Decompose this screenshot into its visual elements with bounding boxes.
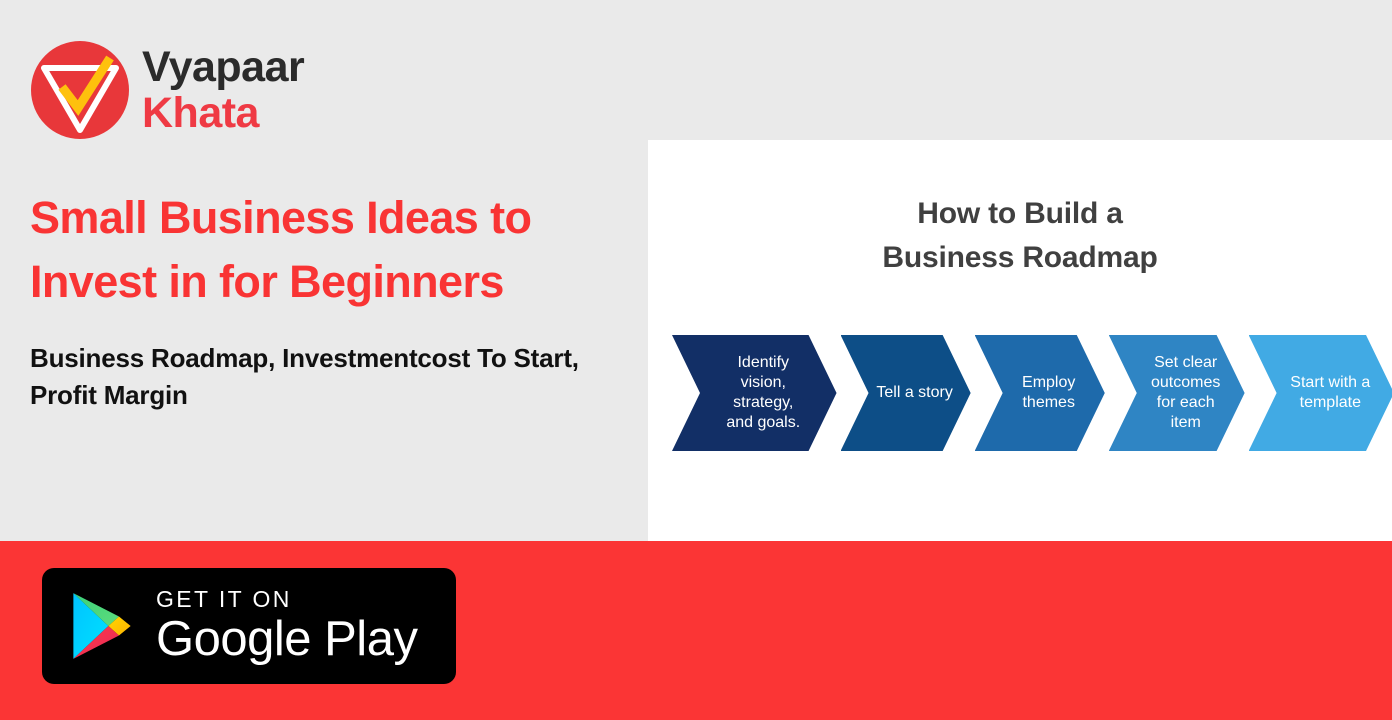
- chevron-step-2-label: Tell a story: [852, 383, 958, 403]
- chevron-step-5-label: Start with a template: [1266, 373, 1376, 413]
- page-subtitle: Business Roadmap, Investmentcost To Star…: [30, 340, 630, 414]
- brand-name-line-1: Vyapaar: [142, 44, 362, 90]
- chevron-step-4: Set clear outcomes for each item: [1109, 335, 1245, 451]
- chevron-step-3-label: Employ themes: [998, 373, 1081, 413]
- google-play-large-text: Google Play: [156, 612, 417, 666]
- promo-banner: How to Build a Business Roadmap Identify…: [0, 0, 1392, 720]
- brand-logo[interactable]: Vyapaar Khata: [30, 38, 330, 142]
- google-play-small-text: GET IT ON: [156, 586, 417, 612]
- google-play-badge-text: GET IT ON Google Play: [156, 586, 417, 666]
- chevron-step-3: Employ themes: [975, 335, 1105, 451]
- chevron-step-5: Start with a template: [1249, 335, 1392, 451]
- brand-name-line-2: Khata: [142, 90, 362, 136]
- google-play-badge[interactable]: GET IT ON Google Play: [42, 568, 456, 684]
- chevron-process-flow: Identify vision, strategy, and goals. Te…: [672, 335, 1392, 451]
- chevron-step-1: Identify vision, strategy, and goals.: [672, 335, 837, 451]
- chevron-step-4-label: Set clear outcomes for each item: [1127, 353, 1226, 433]
- roadmap-title-line-2: Business Roadmap: [648, 236, 1392, 280]
- page-title: Small Business Ideas to Invest in for Be…: [30, 186, 630, 314]
- roadmap-card: How to Build a Business Roadmap Identify…: [648, 140, 1392, 556]
- chevron-step-2: Tell a story: [841, 335, 971, 451]
- vyapaar-v-check-logo-icon: [30, 40, 130, 140]
- headline-block: Small Business Ideas to Invest in for Be…: [30, 186, 630, 414]
- cta-band-right-fill: [648, 556, 1392, 720]
- roadmap-title: How to Build a Business Roadmap: [648, 192, 1392, 280]
- chevron-step-1-label: Identify vision, strategy, and goals.: [702, 353, 806, 433]
- google-play-triangle-icon: [70, 591, 134, 661]
- roadmap-title-line-1: How to Build a: [648, 192, 1392, 236]
- brand-wordmark: Vyapaar Khata: [142, 44, 362, 136]
